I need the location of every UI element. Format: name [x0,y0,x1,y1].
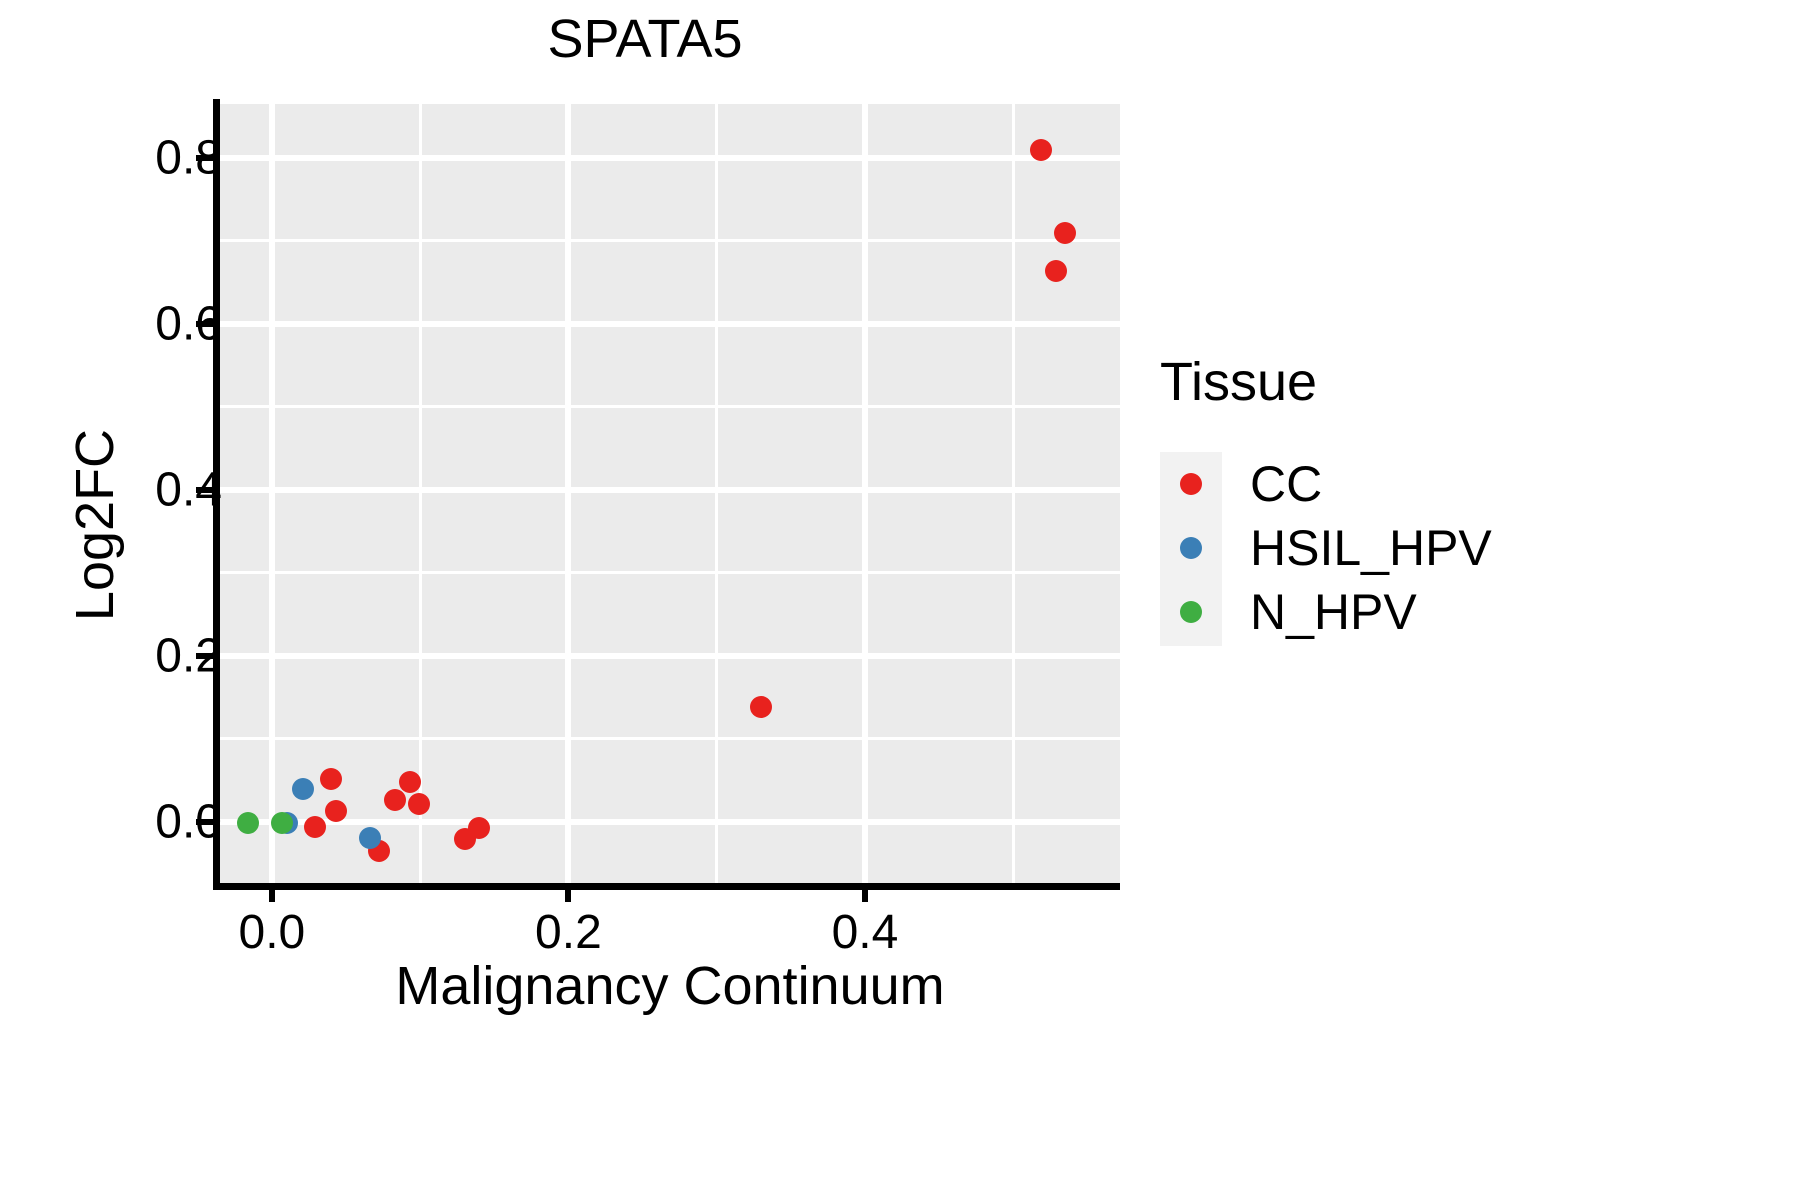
gridline-minor-horizontal [220,405,1120,408]
legend-item-label: CC [1222,459,1322,509]
data-point-cc [304,816,326,838]
gridline-minor-horizontal [220,571,1120,574]
plot-panel [220,104,1120,884]
legend-key [1160,452,1222,516]
scatter-plot-figure: SPATA5 0.00.20.40.60.80.00.20.4 Log2FC M… [0,0,1800,1200]
gridline-minor-vertical [1012,104,1015,884]
data-point-cc [384,789,406,811]
y-axis-tick-label: 0.4 [155,462,222,517]
gridline-minor-horizontal [220,239,1120,242]
data-point-hsil-hpv [292,778,314,800]
gridline-major-vertical [565,104,571,884]
legend-item-label: HSIL_HPV [1222,523,1492,573]
gridline-major-horizontal [220,155,1120,161]
gridline-major-horizontal [220,321,1120,327]
legend-key [1160,516,1222,580]
legend-dot-icon [1180,473,1202,495]
data-point-cc [1030,139,1052,161]
gridline-minor-vertical [715,104,718,884]
gridline-major-horizontal [220,487,1120,493]
legend-dot-icon [1180,601,1202,623]
x-axis-label: Malignancy Continuum [220,955,1120,1017]
data-point-n-hpv [237,812,259,834]
data-point-cc [320,768,342,790]
data-point-cc [1045,260,1067,282]
data-point-n-hpv [271,812,293,834]
data-point-cc [408,793,430,815]
data-point-hsil-hpv [359,827,381,849]
legend-dot-icon [1180,537,1202,559]
gridline-minor-vertical [419,104,422,884]
data-point-cc [750,696,772,718]
y-axis-tick-label: 0.2 [155,628,222,683]
legend-item[interactable]: N_HPV [1160,580,1492,644]
x-axis-tick [269,884,275,902]
data-point-cc [1054,222,1076,244]
legend-items: CCHSIL_HPVN_HPV [1160,452,1492,644]
gridline-major-horizontal [220,653,1120,659]
x-axis-tick-label: 0.2 [535,905,602,960]
data-point-cc [399,771,421,793]
x-axis-line [213,883,1120,890]
gridline-major-vertical [269,104,275,884]
legend-item-label: N_HPV [1222,587,1417,637]
legend-item[interactable]: HSIL_HPV [1160,516,1492,580]
x-axis-tick [862,884,868,902]
y-axis-tick-label: 0.8 [155,130,222,185]
gridline-minor-horizontal [220,737,1120,740]
y-axis-tick-label: 0.0 [155,794,222,849]
x-axis-tick-label: 0.4 [832,905,899,960]
legend-title: Tissue [1160,355,1680,409]
x-axis-tick-label: 0.0 [239,905,306,960]
gridline-major-horizontal [220,819,1120,825]
y-axis-tick-label: 0.6 [155,296,222,351]
legend-key [1160,580,1222,644]
data-point-cc [325,800,347,822]
y-axis-label: Log2FC [64,225,126,825]
legend: Tissue CCHSIL_HPVN_HPV [1160,355,1680,435]
gridline-major-vertical [862,104,868,884]
x-axis-tick [565,884,571,902]
legend-item[interactable]: CC [1160,452,1492,516]
data-point-cc [454,828,476,850]
page-title: SPATA5 [0,8,1290,70]
